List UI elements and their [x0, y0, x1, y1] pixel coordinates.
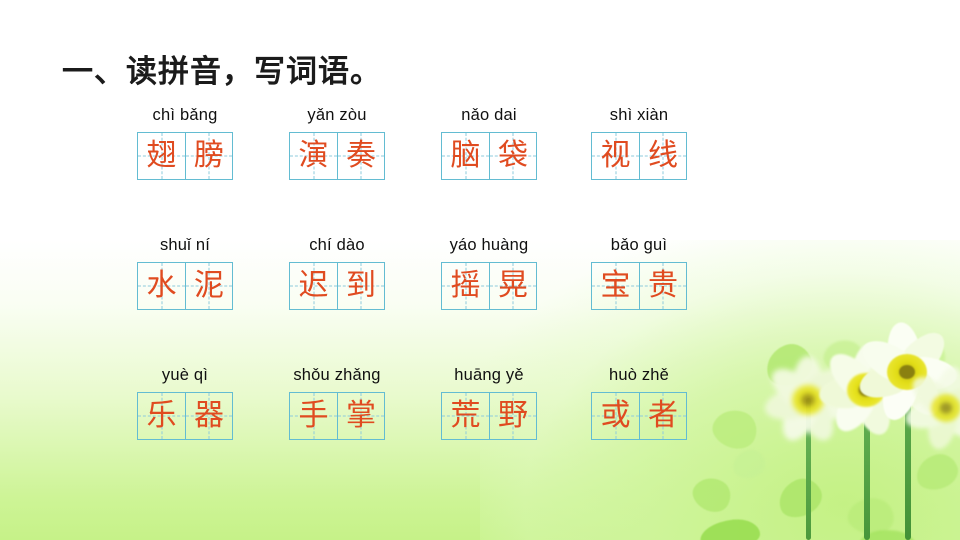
character-cell[interactable]: 摇: [442, 263, 489, 309]
word-item[interactable]: yáo huàng 摇 晃: [414, 234, 564, 310]
pinyin-label: bǎo guì: [564, 234, 714, 256]
pinyin-label: yáo huàng: [414, 234, 564, 256]
pinyin-label: huò zhě: [564, 364, 714, 386]
character-glyph: 晃: [498, 271, 528, 301]
word-item[interactable]: shǒu zhǎng 手 掌: [262, 364, 412, 440]
character-glyph: 视: [601, 141, 631, 171]
character-glyph: 演: [299, 141, 329, 171]
word-item[interactable]: bǎo guì 宝 贵: [564, 234, 714, 310]
character-cell[interactable]: 荒: [442, 393, 489, 439]
page-title: 一、读拼音，写词语。: [62, 46, 382, 91]
word-item[interactable]: shuǐ ní 水 泥: [110, 234, 260, 310]
pinyin-label: shì xiàn: [564, 104, 714, 126]
character-grid-box[interactable]: 视 线: [591, 132, 687, 180]
character-grid-box[interactable]: 乐 器: [137, 392, 233, 440]
character-glyph: 膀: [194, 141, 224, 171]
character-glyph: 袋: [498, 141, 528, 171]
character-cell[interactable]: 翅: [138, 133, 185, 179]
word-item[interactable]: chì bǎng 翅 膀: [110, 104, 260, 180]
word-row: shuǐ ní 水 泥 chí dào 迟 到 yáo huàng: [0, 234, 960, 364]
character-glyph: 宝: [601, 271, 631, 301]
character-cell[interactable]: 手: [290, 393, 337, 439]
word-item[interactable]: yǎn zòu 演 奏: [262, 104, 412, 180]
character-cell[interactable]: 演: [290, 133, 337, 179]
character-glyph: 野: [498, 401, 528, 431]
character-cell[interactable]: 线: [639, 133, 686, 179]
word-row: yuè qì 乐 器 shǒu zhǎng 手 掌 huāng yě: [0, 364, 960, 494]
character-glyph: 器: [194, 401, 224, 431]
pinyin-label: yuè qì: [110, 364, 260, 386]
character-glyph: 迟: [299, 271, 329, 301]
character-cell[interactable]: 迟: [290, 263, 337, 309]
character-cell[interactable]: 奏: [337, 133, 384, 179]
character-cell[interactable]: 膀: [185, 133, 232, 179]
character-cell[interactable]: 器: [185, 393, 232, 439]
pinyin-label: chí dào: [262, 234, 412, 256]
pinyin-label: yǎn zòu: [262, 104, 412, 126]
character-glyph: 奏: [346, 141, 376, 171]
character-grid-box[interactable]: 手 掌: [289, 392, 385, 440]
character-glyph: 线: [648, 141, 678, 171]
character-glyph: 手: [299, 401, 329, 431]
character-cell[interactable]: 掌: [337, 393, 384, 439]
character-grid-box[interactable]: 脑 袋: [441, 132, 537, 180]
word-item[interactable]: chí dào 迟 到: [262, 234, 412, 310]
character-grid-box[interactable]: 宝 贵: [591, 262, 687, 310]
slide-canvas: 一、读拼音，写词语。 chì bǎng 翅 膀 yǎn zòu 演 奏: [0, 0, 960, 540]
character-glyph: 荒: [451, 401, 481, 431]
character-glyph: 摇: [451, 271, 481, 301]
character-cell[interactable]: 水: [138, 263, 185, 309]
character-cell[interactable]: 宝: [592, 263, 639, 309]
pinyin-label: nǎo dai: [414, 104, 564, 126]
word-grid: chì bǎng 翅 膀 yǎn zòu 演 奏 nǎo dai: [0, 104, 960, 494]
character-cell[interactable]: 野: [489, 393, 536, 439]
character-cell[interactable]: 晃: [489, 263, 536, 309]
character-glyph: 到: [346, 271, 376, 301]
word-item[interactable]: huò zhě 或 者: [564, 364, 714, 440]
word-item[interactable]: huāng yě 荒 野: [414, 364, 564, 440]
character-glyph: 翅: [147, 141, 177, 171]
character-grid-box[interactable]: 荒 野: [441, 392, 537, 440]
word-item[interactable]: yuè qì 乐 器: [110, 364, 260, 440]
character-glyph: 掌: [346, 401, 376, 431]
character-cell[interactable]: 乐: [138, 393, 185, 439]
character-glyph: 水: [147, 271, 177, 301]
character-grid-box[interactable]: 或 者: [591, 392, 687, 440]
pinyin-label: chì bǎng: [110, 104, 260, 126]
character-glyph: 泥: [194, 271, 224, 301]
character-cell[interactable]: 脑: [442, 133, 489, 179]
pinyin-label: huāng yě: [414, 364, 564, 386]
character-glyph: 者: [648, 401, 678, 431]
word-item[interactable]: shì xiàn 视 线: [564, 104, 714, 180]
character-cell[interactable]: 或: [592, 393, 639, 439]
pinyin-label: shuǐ ní: [110, 234, 260, 256]
worksheet-content: 一、读拼音，写词语。 chì bǎng 翅 膀 yǎn zòu 演 奏: [0, 0, 960, 540]
word-row: chì bǎng 翅 膀 yǎn zòu 演 奏 nǎo dai: [0, 104, 960, 234]
word-item[interactable]: nǎo dai 脑 袋: [414, 104, 564, 180]
character-cell[interactable]: 贵: [639, 263, 686, 309]
character-grid-box[interactable]: 摇 晃: [441, 262, 537, 310]
character-grid-box[interactable]: 翅 膀: [137, 132, 233, 180]
character-glyph: 脑: [451, 141, 481, 171]
character-cell[interactable]: 到: [337, 263, 384, 309]
pinyin-label: shǒu zhǎng: [262, 364, 412, 386]
character-cell[interactable]: 视: [592, 133, 639, 179]
character-grid-box[interactable]: 迟 到: [289, 262, 385, 310]
character-grid-box[interactable]: 水 泥: [137, 262, 233, 310]
character-glyph: 或: [601, 401, 631, 431]
character-cell[interactable]: 泥: [185, 263, 232, 309]
character-cell[interactable]: 袋: [489, 133, 536, 179]
character-grid-box[interactable]: 演 奏: [289, 132, 385, 180]
character-glyph: 贵: [648, 271, 678, 301]
character-cell[interactable]: 者: [639, 393, 686, 439]
character-glyph: 乐: [147, 401, 177, 431]
